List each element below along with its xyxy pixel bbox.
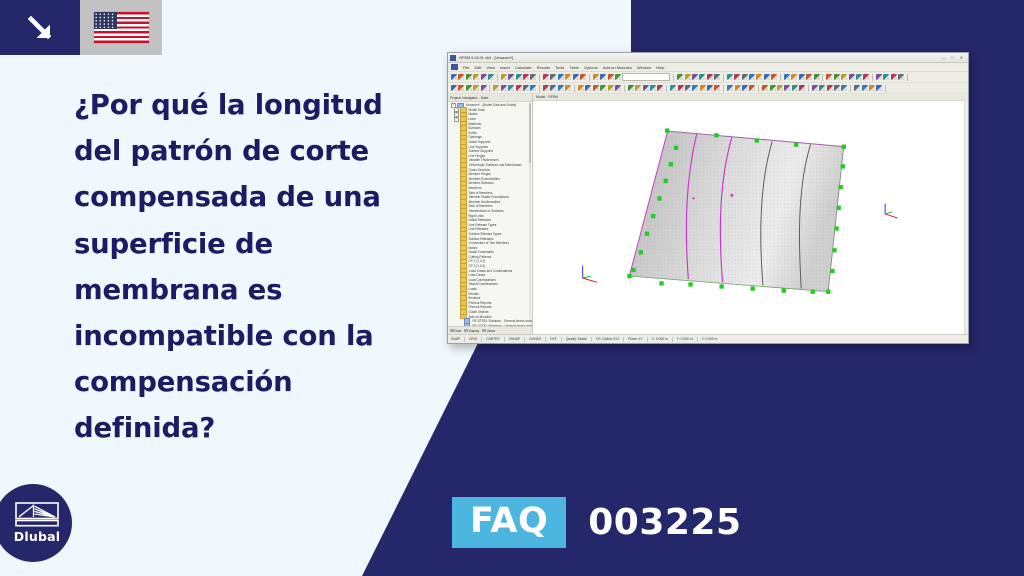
toolbar-button[interactable] xyxy=(516,85,522,91)
toolbar-button[interactable] xyxy=(670,85,676,91)
toolbar-button[interactable] xyxy=(869,85,875,91)
toolbar-button[interactable] xyxy=(876,74,882,80)
maximize-button[interactable]: □ xyxy=(951,55,953,60)
navigator-tree-item-label: Orthotropic Surfaces and Membranes xyxy=(469,163,522,167)
toolbar-button[interactable] xyxy=(799,74,805,80)
axis-triad-main xyxy=(583,266,597,283)
toolbar-button[interactable] xyxy=(523,85,529,91)
window-body: Project Navigator - Data +Unsaved* - [Mo… xyxy=(448,94,968,334)
navigator-tab-data-label: Data xyxy=(455,329,462,333)
bridge-truss-icon xyxy=(15,502,59,528)
navigator-tabs: Data Display Views xyxy=(448,326,532,334)
page-title: ¿Por qué la longitud del patrón de corte… xyxy=(74,82,419,452)
navigator-tree-item-label: CP 1 (1.0.1) xyxy=(468,259,485,263)
close-button[interactable]: ✕ xyxy=(960,55,963,60)
toolbar-button[interactable] xyxy=(749,85,755,91)
toolbar-button[interactable] xyxy=(466,85,472,91)
navigator-tree-item-label: Connection of Two Members xyxy=(469,241,509,245)
toolbar-button[interactable] xyxy=(806,74,812,80)
navigator-tree-item-label: Nodal Constraints xyxy=(469,250,494,254)
navigator-tree-item-label: Add-on Modules xyxy=(469,315,492,319)
toolbar-button[interactable] xyxy=(473,74,479,80)
navigator-tree-item-label: Materials xyxy=(468,122,481,126)
menu-app-icon xyxy=(451,64,458,70)
faq-footer: FAQ 003225 xyxy=(452,497,742,548)
navigator-tree-item-label: Load Cases and Combinations xyxy=(469,269,512,273)
toolbar-button[interactable] xyxy=(742,85,748,91)
navigator-tree-item-label: Variable Thicknesses xyxy=(469,158,499,162)
menu-item-insert[interactable]: Insert xyxy=(500,65,510,70)
navigator-tree-item-label: Nodes xyxy=(468,246,477,250)
toolbar-separator xyxy=(574,85,575,92)
statusbar-cell[interactable]: OSNAP xyxy=(509,337,521,341)
axis-triad-secondary xyxy=(885,204,897,218)
toolbar-button[interactable] xyxy=(558,85,564,91)
rfem-app-icon xyxy=(450,55,456,61)
toolbar-button[interactable] xyxy=(749,74,755,80)
navigator-tree-item-label: Sets of Members xyxy=(469,191,493,195)
toolbar-button[interactable] xyxy=(819,85,825,91)
toolbar-button[interactable] xyxy=(608,74,614,80)
statusbar-cell[interactable]: GRID xyxy=(469,337,477,341)
navigator-tab-display[interactable]: Display xyxy=(464,329,479,333)
navigator-tree-item-label: Model Data xyxy=(468,108,484,112)
toolbar-button[interactable] xyxy=(742,74,748,80)
toolbar-separator xyxy=(758,85,759,92)
toolbar-separator xyxy=(666,85,667,92)
navigator-tree-item-label: Line Release Types xyxy=(469,223,497,227)
toolbar-separator xyxy=(539,85,540,92)
toolbar-separator xyxy=(723,74,724,81)
navigator-tree-item-label: Member Divisions xyxy=(469,181,494,185)
toolbar-button[interactable] xyxy=(600,85,606,91)
toolbar-button[interactable] xyxy=(834,74,840,80)
faq-number: 003225 xyxy=(588,505,741,541)
toolbar-button[interactable] xyxy=(898,74,904,80)
toolbar-button[interactable] xyxy=(734,74,740,80)
toolbar-button[interactable] xyxy=(841,74,847,80)
toolbar-separator xyxy=(885,85,886,92)
navigator-tree-item-label: Openings xyxy=(468,135,482,139)
toolbar-button[interactable] xyxy=(530,74,536,80)
toolbar-separator xyxy=(673,74,674,81)
statusbar-separator xyxy=(464,337,465,342)
toolbar-button[interactable] xyxy=(565,85,571,91)
flag-usa-icon xyxy=(80,0,162,55)
toolbar-button[interactable] xyxy=(792,85,798,91)
navigator-tree-item-label: Solids xyxy=(468,131,477,135)
toolbar-button[interactable] xyxy=(707,85,713,91)
toolbar-button[interactable] xyxy=(707,74,713,80)
toolbar-button[interactable] xyxy=(791,74,797,80)
toolbar-button[interactable] xyxy=(727,85,733,91)
navigator-tree-item-label: Results xyxy=(468,292,479,296)
toolbar-button[interactable] xyxy=(849,74,855,80)
statusbar-separator xyxy=(524,337,525,342)
toolbar-button[interactable] xyxy=(593,85,599,91)
application-screenshot: RFEM 5.26.01 x64 - [Unsaved*] — □ ✕ File… xyxy=(447,52,969,344)
poster-canvas: ¿Por qué la longitud del patrón de corte… xyxy=(0,0,1024,576)
toolbar-button[interactable] xyxy=(451,74,457,80)
navigator-tree-item-label: Load Combinations xyxy=(469,278,496,282)
viewport-scrollbar-vertical[interactable] xyxy=(964,100,968,334)
navigator-tree-item[interactable]: RF-STEEL Members - General stress analys… xyxy=(449,324,532,327)
toolbar-button[interactable] xyxy=(466,74,472,80)
toolbar-button[interactable] xyxy=(481,74,487,80)
toolbar-button[interactable] xyxy=(856,74,862,80)
toolbar-button[interactable] xyxy=(862,85,868,91)
statusbar-separator xyxy=(504,337,505,342)
navigator-tree-item-label: Line Supports xyxy=(468,145,488,149)
toolbar-separator xyxy=(489,85,490,92)
menu-item-results[interactable]: Results xyxy=(537,65,550,70)
toolbar-button[interactable] xyxy=(488,74,494,80)
tree-expander-icon[interactable]: + xyxy=(454,117,459,122)
toolbar-button[interactable] xyxy=(685,85,691,91)
toolbar-separator xyxy=(850,85,851,92)
statusbar-separator xyxy=(481,337,482,342)
navigator-tree-item-label: Unsaved* - [Model Data and Guide] xyxy=(466,103,516,107)
toolbar-button[interactable] xyxy=(814,74,820,80)
navigator-tree-item-label: Lines xyxy=(468,117,476,121)
toolbar-separator xyxy=(497,74,498,81)
toolbar-button[interactable] xyxy=(827,85,833,91)
toolbar-button[interactable] xyxy=(573,74,579,80)
navigator-tree-item-label: Member Elastic Foundations xyxy=(469,195,509,199)
toolbar-button[interactable] xyxy=(727,74,733,80)
toolbar-primary xyxy=(448,72,968,83)
navigator-tab-data[interactable]: Data xyxy=(450,329,461,333)
navigator-tab-display-label: Display xyxy=(469,329,479,333)
toolbar-button[interactable] xyxy=(854,85,860,91)
toolbar-separator xyxy=(589,74,590,81)
toolbar-button[interactable] xyxy=(508,85,514,91)
dlubal-logo: Dlubal xyxy=(0,484,72,562)
navigator-tree-item-label: Intersections of Surfaces xyxy=(469,209,504,213)
toolbar-button[interactable] xyxy=(826,74,832,80)
menu-item-options[interactable]: Options xyxy=(584,65,598,70)
toolbar-button[interactable] xyxy=(593,74,599,80)
menu-item-addon-modules[interactable]: Add-on Modules xyxy=(603,65,632,70)
statusbar-cell[interactable]: CARTES xyxy=(486,337,499,341)
toolbar-button[interactable] xyxy=(777,85,783,91)
menu-item-view[interactable]: View xyxy=(486,65,495,70)
toolbar-button[interactable] xyxy=(735,85,741,91)
toolbar-button[interactable] xyxy=(685,74,691,80)
menu-item-tools[interactable]: Tools xyxy=(555,65,564,70)
toolbar-button[interactable] xyxy=(692,85,698,91)
toolbar-button[interactable] xyxy=(863,74,869,80)
toolbar-button[interactable] xyxy=(714,74,720,80)
navigator-tree-item-label: Surface Release Types xyxy=(469,232,502,236)
navigator-tree-item-label: Line Hinges xyxy=(468,154,485,158)
toolbar-separator xyxy=(780,74,781,81)
toolbar-button[interactable] xyxy=(543,85,549,91)
navigator-tree-item-label: Rigid Links xyxy=(468,214,483,218)
navigator-tree-item-label: Result Combinations xyxy=(469,282,498,286)
viewport-tab-label: Model - RFEM xyxy=(536,95,558,99)
menu-item-calculate[interactable]: Calculate xyxy=(515,65,532,70)
toolbar-button[interactable] xyxy=(771,74,777,80)
minimize-button[interactable]: — xyxy=(941,55,945,60)
toolbar-button[interactable] xyxy=(700,85,706,91)
membrane-surface-model xyxy=(533,100,968,338)
toolbar-button[interactable] xyxy=(650,85,656,91)
model-viewport[interactable]: Model - RFEM xyxy=(533,94,968,334)
toolbar-secondary xyxy=(448,83,968,94)
header-badges xyxy=(0,0,162,55)
navigator-tree-item-label: RF-STEEL Members - General stress analys… xyxy=(473,324,532,326)
toolbar-separator xyxy=(907,74,908,81)
toolbar-button[interactable] xyxy=(643,85,649,91)
toolbar-button[interactable] xyxy=(565,74,571,80)
navigator-tree-item-label: Printout Reports xyxy=(469,301,492,305)
navigator-tree-item-label: Member Eccentricities xyxy=(469,177,500,181)
navigator-tree-item-label: Load Cases xyxy=(468,273,485,277)
toolbar-button[interactable] xyxy=(550,85,556,91)
navigator-tree-item-label: Members xyxy=(468,186,481,190)
toolbar-button[interactable] xyxy=(516,74,522,80)
toolbar-button[interactable] xyxy=(714,85,720,91)
toolbar-separator xyxy=(624,85,625,92)
membrane-surface xyxy=(629,131,843,292)
project-navigator: Project Navigator - Data +Unsaved* - [Mo… xyxy=(448,94,533,334)
navigator-tree-item-label: Surfaces xyxy=(468,126,480,130)
navigator-tree-item-label: RF-STEEL Surfaces - General stress analy… xyxy=(473,319,532,323)
menu-item-help[interactable]: Help xyxy=(656,65,664,70)
menubar: File Edit View Insert Calculate Results … xyxy=(448,63,968,72)
toolbar-button[interactable] xyxy=(615,74,621,80)
toolbar-button[interactable] xyxy=(585,85,591,91)
navigator-tree-item-label: Nodes xyxy=(468,112,477,116)
toolbar-button[interactable] xyxy=(481,85,487,91)
toolbar-separator xyxy=(822,74,823,81)
toolbar-separator xyxy=(539,74,540,81)
toolbar-button[interactable] xyxy=(451,85,457,91)
navigator-tree-item-label: Loads xyxy=(468,287,477,291)
menu-item-window[interactable]: Window xyxy=(637,65,651,70)
window-title: RFEM 5.26.01 x64 - [Unsaved*] xyxy=(459,55,513,60)
navigator-tree-item-label: Cross-Sections xyxy=(469,168,490,172)
toolbar-button[interactable] xyxy=(799,85,805,91)
faq-badge: FAQ xyxy=(452,497,566,548)
toolbar-button[interactable] xyxy=(834,85,840,91)
toolbar-button[interactable] xyxy=(501,74,507,80)
toolbar-button[interactable] xyxy=(600,74,606,80)
logo-text: Dlubal xyxy=(14,529,60,544)
toolbar-button[interactable] xyxy=(883,74,889,80)
toolbar-button[interactable] xyxy=(473,85,479,91)
navigator-tree-item-label: Surface Releases xyxy=(469,237,494,241)
navigator-tree-item-label: Surface Supports xyxy=(469,149,493,153)
toolbar-button[interactable] xyxy=(580,74,586,80)
menu-item-table[interactable]: Table xyxy=(569,65,579,70)
toolbar-button[interactable] xyxy=(876,85,882,91)
navigator-tree-item-label: Guide Objects xyxy=(468,310,488,314)
toolbar-separator xyxy=(723,85,724,92)
navigator-scrollbar[interactable] xyxy=(529,103,532,318)
toolbar-button[interactable] xyxy=(677,74,683,80)
toolbar-button[interactable] xyxy=(578,85,584,91)
statusbar-cell[interactable]: SNAP xyxy=(451,337,460,341)
toolbar-button[interactable] xyxy=(891,74,897,80)
menu-item-file[interactable]: File xyxy=(463,65,469,70)
arrow-down-right-icon xyxy=(0,0,80,55)
toolbar-button[interactable] xyxy=(841,85,847,91)
toolbar-button[interactable] xyxy=(628,85,634,91)
toolbar-button[interactable] xyxy=(692,74,698,80)
navigator-tree-item-label: Line Releases xyxy=(468,227,488,231)
toolbar-button[interactable] xyxy=(657,85,663,91)
toolbar-button[interactable] xyxy=(558,74,564,80)
toolbar-button[interactable] xyxy=(493,85,499,91)
navigator-tree-item-label: Nodal Supports xyxy=(469,140,491,144)
toolbar-button[interactable] xyxy=(784,74,790,80)
navigator-tab-views-label: Views xyxy=(487,329,495,333)
navigator-tab-views[interactable]: Views xyxy=(482,329,495,333)
window-titlebar: RFEM 5.26.01 x64 - [Unsaved*] — □ ✕ xyxy=(448,53,968,63)
toolbar-button[interactable] xyxy=(756,74,762,80)
navigator-tree-item-label: CP 2 (1.0.2) xyxy=(468,264,485,268)
toolbar-button[interactable] xyxy=(699,74,705,80)
navigator-tree-item-label: Printout Reports xyxy=(469,305,492,309)
navigator-tree[interactable]: +Unsaved* - [Model Data and Guide]+Model… xyxy=(448,102,532,326)
toolbar-button[interactable] xyxy=(770,85,776,91)
toolbar-separator xyxy=(872,74,873,81)
toolbar-button[interactable] xyxy=(608,85,614,91)
toolbar-button[interactable] xyxy=(764,74,770,80)
navigator-tree-item-label: Member Nonlinearities xyxy=(469,200,501,204)
toolbar-button[interactable] xyxy=(784,85,790,91)
toolbar-separator xyxy=(808,85,809,92)
toolbar-button[interactable] xyxy=(458,74,464,80)
toolbar-button[interactable] xyxy=(615,85,621,91)
menu-item-edit[interactable]: Edit xyxy=(474,65,481,70)
navigator-tree-item-label: Member Hinges xyxy=(469,172,491,176)
navigator-tree-item-label: Nodal Releases xyxy=(469,218,491,222)
toolbar-button[interactable] xyxy=(678,85,684,91)
module-icon xyxy=(464,323,471,326)
toolbar-button[interactable] xyxy=(762,85,768,91)
toolbar-button[interactable] xyxy=(458,85,464,91)
navigator-tree-item-label: Cutting Patterns xyxy=(469,255,492,259)
toolbar-button[interactable] xyxy=(501,85,507,91)
navigator-header: Project Navigator - Data xyxy=(448,94,532,102)
toolbar-button[interactable] xyxy=(635,85,641,91)
toolbar-button[interactable] xyxy=(508,74,514,80)
navigator-tree-item-label: Sections xyxy=(468,296,480,300)
toolbar-search-input[interactable] xyxy=(622,73,670,81)
toolbar-button[interactable] xyxy=(812,85,818,91)
toolbar-button[interactable] xyxy=(550,74,556,80)
toolbar-button[interactable] xyxy=(530,85,536,91)
toolbar-button[interactable] xyxy=(543,74,549,80)
toolbar-button[interactable] xyxy=(523,74,529,80)
navigator-tree-item-label: Sets of Members xyxy=(469,204,493,208)
